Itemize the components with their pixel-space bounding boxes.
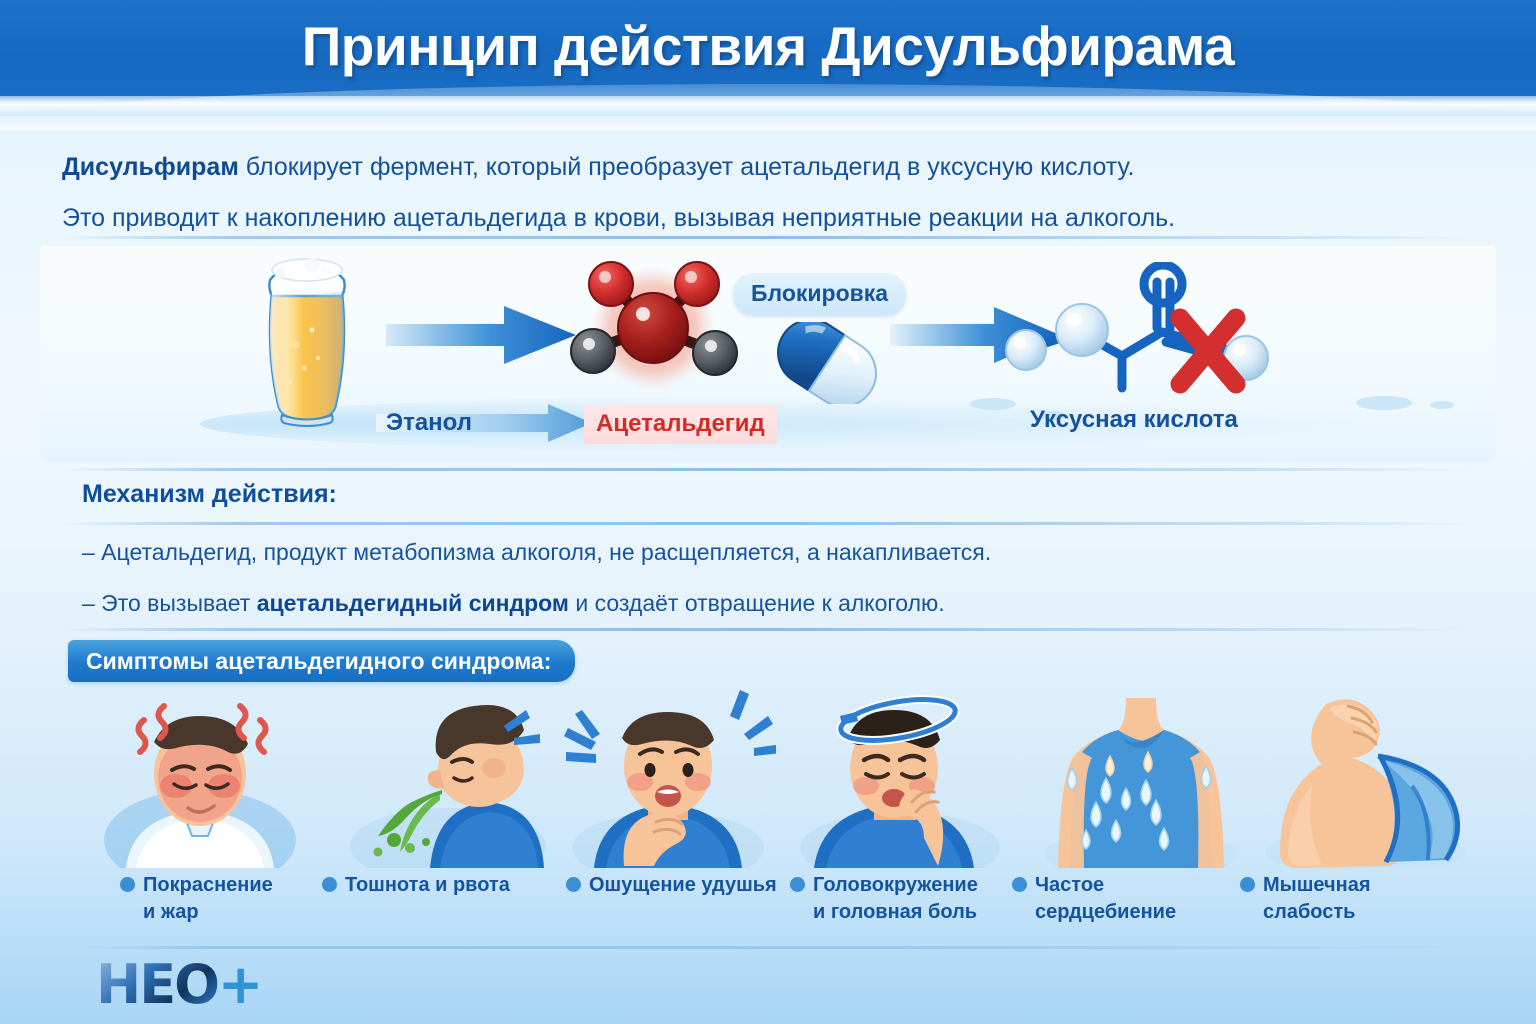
symptom-labels-row: Покраснениеи жар Тошнота и рвота Ошущени… [0, 872, 1536, 938]
mechanism-item-2: – Это вызывает ацетальдегидный синдром и… [82, 587, 1382, 620]
intro-line-2: Это приводит к накоплению ацетальдегида … [62, 199, 1362, 238]
logo-plus-icon: + [218, 953, 261, 1016]
divider-below-mechanism-title [62, 522, 1474, 525]
pool-blob-4 [1430, 401, 1454, 409]
capsule-pill-icon [767, 322, 887, 404]
symptom-label-4-line1: Головокружение [813, 874, 978, 896]
pool-blob-1 [970, 398, 1016, 410]
mechanism-item-1: – Ацетальдегид, продукт метабопизма алко… [82, 536, 1382, 569]
divider-above-symptoms [60, 628, 1476, 631]
flushed-face-icon [90, 690, 310, 868]
bullet-dot-icon-5 [1012, 877, 1027, 892]
symptom-label-6-line1: Мышечная [1263, 874, 1371, 896]
bullet-dot-icon-3 [566, 877, 581, 892]
mechanism-item-2-suffix: и создаёт отвращение к алкоголю. [569, 590, 945, 616]
flexed-arm-icon [1252, 690, 1478, 868]
acetaldehyde-molecule-icon [565, 258, 755, 398]
bullet-dot-icon-1 [120, 877, 135, 892]
page-title: Принцип действия Дисульфирама [0, 14, 1536, 78]
symptom-label-1-line2: и жар [143, 901, 199, 923]
logo-text: НЕО [96, 953, 218, 1016]
symptom-label-1-line1: Покраснение [143, 874, 273, 896]
acetic-acid-structure-icon [1000, 262, 1280, 398]
divider-above-mechanism [60, 468, 1476, 471]
acetaldehyde-label: Ацетальдегид [584, 405, 777, 444]
symptom-label-6-line2: слабость [1263, 901, 1355, 923]
intro-bold-term: Дисульфирам [62, 153, 239, 181]
mechanism-list: – Ацетальдегид, продукт метабопизма алко… [82, 536, 1382, 639]
symptom-label-2: Тошнота и рвота [322, 872, 552, 899]
symptoms-header: Симптомы ацетальдегидного синдрома: [68, 640, 575, 682]
mechanism-item-2-prefix: – Это вызывает [82, 590, 257, 616]
arrow-right-icon [386, 304, 576, 366]
choking-person-icon [560, 690, 776, 868]
symptom-label-3: Ошущение удушья [566, 872, 796, 899]
symptom-label-4: Головокружениеи головная боль [790, 872, 1010, 926]
symptom-label-1: Покраснениеи жар [120, 872, 330, 926]
bullet-dot-icon-2 [322, 877, 337, 892]
bullet-dot-icon-4 [790, 877, 805, 892]
symptom-label-5-line1: Частое [1035, 874, 1104, 896]
symptom-label-3-line1: Ошущение удушья [589, 874, 777, 896]
mechanism-title: Механизм действия: [82, 480, 337, 509]
symptom-label-5: Частоесердцебиение [1012, 872, 1222, 926]
symptoms-illustration-strip [40, 690, 1496, 868]
mechanism-item-2-bold: ацетальдегидный синдром [257, 590, 569, 616]
symptom-label-4-line2: и головная боль [813, 901, 977, 923]
footer-divider [78, 946, 1498, 949]
brand-logo: НЕО+ [96, 958, 261, 1012]
ethanol-label: Этанол [386, 409, 472, 437]
sweating-torso-icon [1030, 690, 1252, 868]
divider-above-reaction [60, 236, 1476, 239]
acetic-acid-label: Уксусная кислота [1030, 406, 1238, 434]
symptom-label-2-line1: Тошнота и рвота [345, 874, 510, 896]
intro-text-block: Дисульфирам блокирует фермент, который п… [62, 148, 1362, 250]
dizzy-person-icon [788, 690, 1012, 868]
vomiting-person-icon [318, 690, 546, 868]
beer-glass-icon [252, 250, 362, 430]
infographic-poster: Принцип действия Дисульфирама Дисульфира… [0, 0, 1536, 1024]
pool-blob-3 [1356, 396, 1412, 410]
intro-line-1-rest: блокирует фермент, который преобразует а… [239, 153, 1135, 181]
blockage-label: Блокировка [733, 273, 906, 315]
header-sheen-decoration [0, 96, 1536, 116]
intro-line-1: Дисульфирам блокирует фермент, который п… [62, 148, 1362, 187]
symptom-label-6: Мышечнаяслабость [1240, 872, 1440, 926]
symptom-label-5-line2: сердцебиение [1035, 901, 1176, 923]
bullet-dot-icon-6 [1240, 877, 1255, 892]
